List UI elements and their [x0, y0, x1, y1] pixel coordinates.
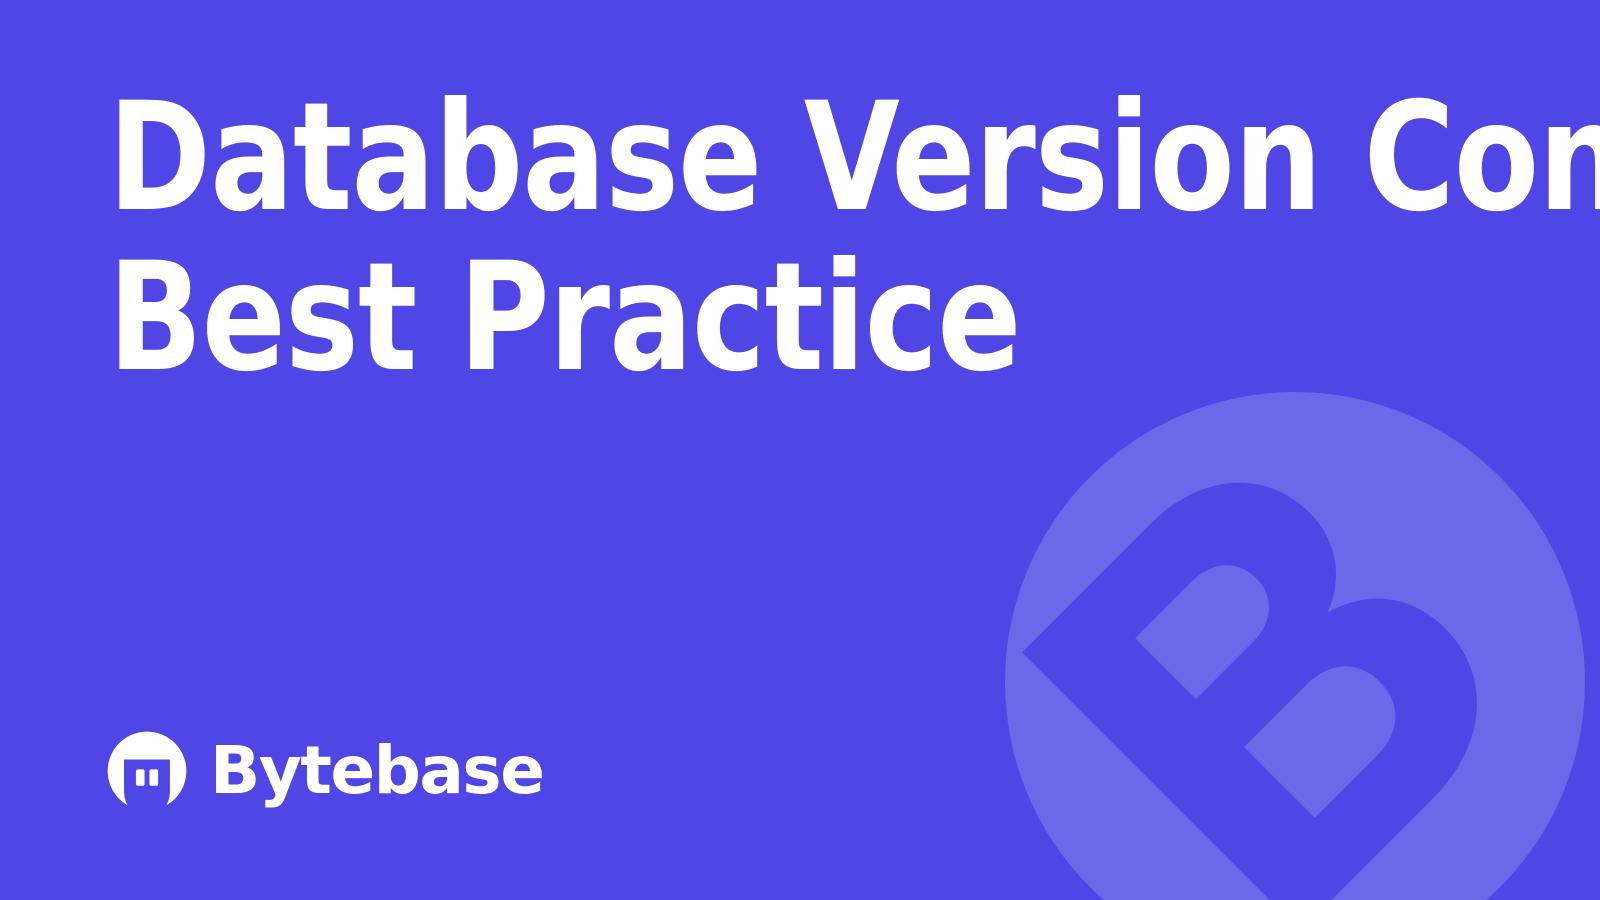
cover-card: Database Version Control Best Practice [0, 0, 1600, 900]
brand-wordmark: Bytebase [210, 738, 543, 804]
bytebase-b-watermark-icon [1005, 390, 1600, 900]
page-title-line-1: Database Version Control [108, 78, 1396, 238]
bytebase-logo-icon [106, 730, 188, 812]
page-title: Database Version Control Best Practice [108, 78, 1508, 398]
brand-lockup: Bytebase [106, 730, 543, 812]
page-title-line-2: Best Practice [108, 238, 1396, 398]
